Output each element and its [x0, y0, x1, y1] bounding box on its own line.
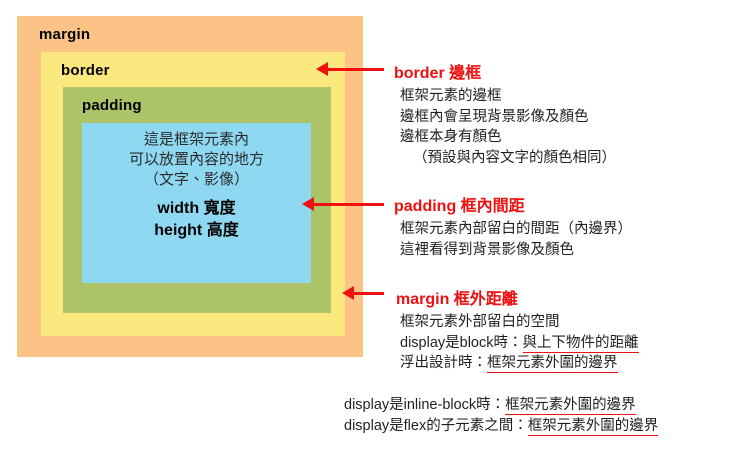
- margin-row-2-underlined: 框架元素外圍的邊界: [487, 355, 618, 373]
- margin-extra-row-1-underlined: 框架元素外圍的邊界: [505, 397, 636, 415]
- margin-extra-row-1: display是inline-block時：框架元素外圍的邊界: [344, 395, 658, 416]
- content-text-block: 這是框架元素內 可以放置內容的地方 （文字、影像） width 寬度 heigh…: [82, 130, 311, 241]
- margin-section-title: margin 框外距離: [396, 285, 518, 309]
- margin-body-row-2: 浮出設計時：框架元素外圍的邊界: [400, 353, 639, 374]
- border-body-line-1: 框架元素的邊框: [400, 86, 616, 107]
- explanation-column: border 邊框 框架元素的邊框 邊框內會呈現背景影像及顏色 邊框本身有顏色 …: [388, 0, 750, 461]
- margin-section-body: 框架元素外部留白的空間 display是block時：與上下物件的距離 浮出設計…: [400, 312, 639, 374]
- border-body-line-4: （預設與內容文字的顏色相同）: [400, 148, 616, 169]
- margin-body-row-1: display是block時：與上下物件的距離: [400, 333, 639, 354]
- box-model-diagram: margin border padding 這是框架元素內 可以放置內容的地方 …: [17, 16, 363, 357]
- content-line-1: 這是框架元素內: [82, 130, 311, 150]
- border-body-line-3: 邊框本身有顏色: [400, 127, 616, 148]
- border-section-body: 框架元素的邊框 邊框內會呈現背景影像及顏色 邊框本身有顏色 （預設與內容文字的顏…: [400, 86, 616, 168]
- margin-extra-row-2-underlined: 框架元素外圍的邊界: [528, 418, 659, 436]
- margin-extra-body: display是inline-block時：框架元素外圍的邊界 display是…: [344, 395, 658, 436]
- padding-label: padding: [82, 97, 142, 114]
- margin-extra-row-1-prefix: display是inline-block時：: [344, 397, 505, 413]
- margin-pointer-arrow-icon: [353, 292, 384, 295]
- padding-body-line-2: 這裡看得到背景影像及顏色: [400, 240, 632, 261]
- margin-row-1-underlined: 與上下物件的距離: [523, 335, 639, 353]
- border-pointer-arrow-icon: [327, 68, 384, 71]
- content-width-label: width 寬度: [82, 198, 311, 219]
- border-label: border: [61, 62, 110, 79]
- margin-row-1-prefix: display是block時：: [400, 335, 523, 351]
- margin-row-2-prefix: 浮出設計時：: [400, 355, 487, 371]
- padding-section-title: padding 框內間距: [394, 192, 525, 216]
- padding-section-body: 框架元素內部留白的間距（內邊界） 這裡看得到背景影像及顏色: [400, 219, 632, 260]
- border-section-title: border 邊框: [394, 59, 481, 83]
- content-line-2: 可以放置內容的地方: [82, 150, 311, 170]
- margin-label: margin: [39, 26, 90, 43]
- content-spacer: [82, 189, 311, 198]
- padding-body-line-1: 框架元素內部留白的間距（內邊界）: [400, 219, 632, 240]
- margin-extra-row-2-prefix: display是flex的子元素之間：: [344, 418, 528, 434]
- padding-pointer-arrow-icon: [313, 203, 384, 206]
- margin-body-line-1: 框架元素外部留白的空間: [400, 312, 639, 333]
- margin-extra-row-2: display是flex的子元素之間：框架元素外圍的邊界: [344, 416, 658, 437]
- content-line-3: （文字、影像）: [82, 170, 311, 190]
- content-height-label: height 高度: [82, 220, 311, 241]
- border-body-line-2: 邊框內會呈現背景影像及顏色: [400, 107, 616, 128]
